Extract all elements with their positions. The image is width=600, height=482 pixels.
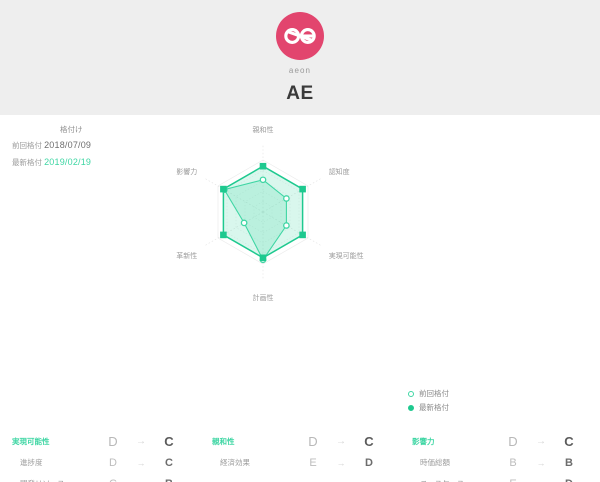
grades-column: 親和性D→C経済効果E→D革新性C→C競合D→D目新しさB→C	[200, 431, 400, 482]
grade-previous-value: D	[500, 434, 526, 449]
grade-previous-value: D	[100, 457, 126, 469]
radar-axis-label: 影響力	[176, 167, 197, 176]
brand-name: aeon	[289, 66, 311, 75]
brand-header: aeon AE	[0, 0, 600, 115]
radar-axis-label: 実現可能性	[329, 251, 364, 260]
radar-chart: 親和性認知度実現可能性計画性革新性影響力	[0, 117, 600, 417]
grades-column: 実現可能性D→C進捗度D→C開発リソースC→B計画性D→CロードマップE→D資金…	[0, 431, 200, 482]
grade-category-row: 影響力D→C	[400, 431, 600, 452]
grade-category-row: 親和性D→C	[200, 431, 400, 452]
rating-card: 格付け 前回格付 2018/07/09 最新格付 2019/02/19 親和性認…	[0, 115, 600, 482]
arrow-right-icon: →	[526, 436, 556, 447]
arrow-right-icon: →	[126, 458, 156, 468]
grade-item-row: 進捗度D→C	[0, 452, 200, 473]
grade-item-label: 経済効果	[212, 457, 300, 468]
grade-item-row: ユースケースE→D	[400, 473, 600, 482]
hollow-circle-icon	[408, 391, 414, 397]
legend-label-previous: 前回格付	[419, 387, 449, 401]
grade-latest-value: C	[556, 434, 582, 449]
grade-category-label: 親和性	[212, 436, 300, 447]
grade-previous-value: E	[300, 457, 326, 469]
group-spacer	[200, 473, 400, 481]
grade-item-label: 時価総額	[412, 457, 500, 468]
arrow-right-icon: →	[126, 479, 156, 482]
grade-item-label: ユースケース	[412, 478, 500, 482]
grade-previous-value: B	[500, 457, 526, 469]
arrow-right-icon: →	[326, 458, 356, 468]
radar-axis-label: 親和性	[253, 125, 274, 134]
grade-previous-value: C	[100, 478, 126, 482]
grade-item-row: 時価総額B→B	[400, 452, 600, 473]
grade-item-row: 開発リソースC→B	[0, 473, 200, 482]
radar-axis-label: 認知度	[329, 167, 350, 176]
ticker-symbol: AE	[286, 83, 314, 105]
grade-category-label: 実現可能性	[12, 436, 100, 447]
aeon-infinity-logo-icon	[276, 12, 324, 60]
grade-item-label: 進捗度	[12, 457, 100, 468]
radar-axis-label: 革新性	[176, 251, 197, 260]
grade-latest-value: B	[556, 457, 582, 469]
filled-circle-icon	[408, 405, 414, 411]
arrow-right-icon: →	[126, 436, 156, 447]
arrow-right-icon: →	[526, 458, 556, 468]
arrow-right-icon: →	[326, 436, 356, 447]
legend-label-latest: 最新格付	[419, 401, 449, 415]
grade-previous-value: D	[100, 434, 126, 449]
chart-legend: 前回格付 最新格付	[408, 387, 449, 416]
grade-latest-value: C	[356, 434, 382, 449]
grade-latest-value: C	[156, 457, 182, 469]
grade-item-label: 開発リソース	[12, 478, 100, 482]
grade-previous-value: D	[300, 434, 326, 449]
grade-previous-value: E	[500, 478, 526, 482]
arrow-right-icon: →	[526, 479, 556, 482]
grade-item-row: 経済効果E→D	[200, 452, 400, 473]
grades-column: 影響力D→C時価総額B→BユースケースE→D認知度C→CマーケティングC→B情報…	[400, 431, 600, 482]
grade-latest-value: B	[156, 478, 182, 482]
legend-item-previous: 前回格付	[408, 387, 449, 401]
grade-latest-value: D	[356, 457, 382, 469]
radar-chart-svg: 親和性認知度実現可能性計画性革新性影響力	[170, 117, 430, 417]
legend-item-latest: 最新格付	[408, 401, 449, 415]
grades-table: 実現可能性D→C進捗度D→C開発リソースC→B計画性D→CロードマップE→D資金…	[0, 431, 600, 482]
grade-latest-value: D	[556, 478, 582, 482]
radar-axis-label: 計画性	[253, 293, 274, 302]
grade-category-label: 影響力	[412, 436, 500, 447]
grade-latest-value: C	[156, 434, 182, 449]
grade-category-row: 実現可能性D→C	[0, 431, 200, 452]
